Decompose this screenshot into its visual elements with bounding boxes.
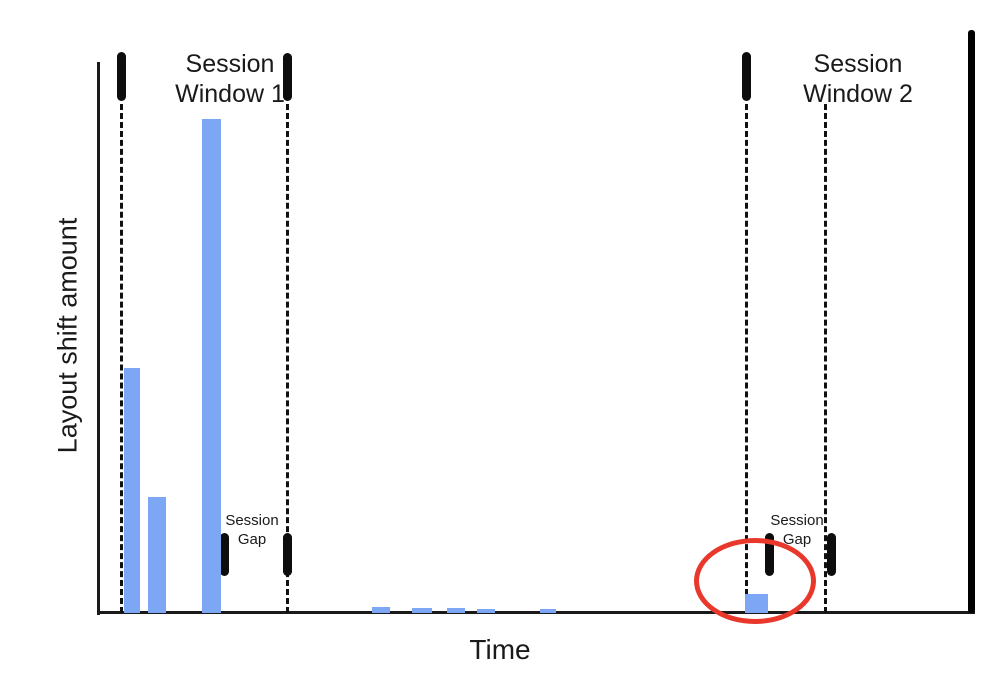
layout-shift-bar-6 [447,608,465,613]
session-window-2-label: Session Window 2 [773,50,943,109]
x-axis-label: Time [0,634,1000,666]
cls-session-window-chart: Session Window 1 Session Gap Session Win… [0,0,1000,687]
x-axis-line [97,611,975,614]
layout-shift-bar-1 [124,368,140,613]
right-boundary-line [968,30,975,613]
y-axis-label: Layout shift amount [53,206,84,466]
layout-shift-bar-2 [148,497,166,613]
y-axis-line [97,62,100,615]
session-window-1-start-dashed-line [120,104,123,613]
layout-shift-bar-7 [477,609,495,613]
session-window-2-start-marker [742,52,751,101]
layout-shift-bar-5 [412,608,432,613]
layout-shift-bar-8 [540,609,556,613]
layout-shift-bar-3 [202,119,221,613]
session-window-1-start-marker [117,52,126,101]
layout-shift-bar-4 [372,607,390,613]
highlight-ellipse [694,538,816,624]
session-gap-1-label: Session Gap [216,512,288,550]
session-window-1-label: Session Window 1 [145,50,315,109]
session-window-2-start-dashed-line [745,104,748,613]
